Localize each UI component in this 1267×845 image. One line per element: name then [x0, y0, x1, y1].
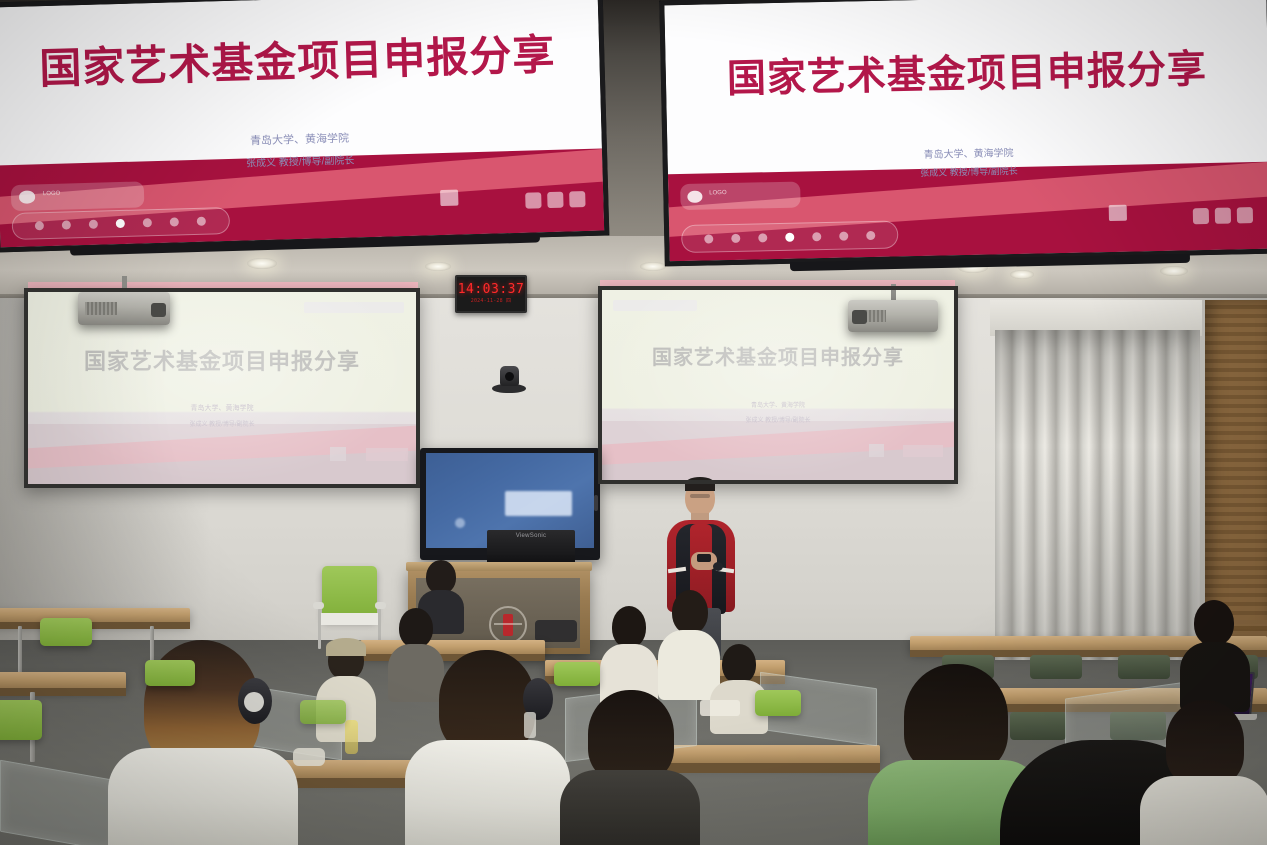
audience-head — [399, 608, 433, 648]
audience-shirt — [405, 740, 570, 845]
pen-icon[interactable] — [704, 234, 713, 243]
desk-leg — [18, 626, 22, 678]
audience-head — [672, 590, 708, 634]
audience-head — [722, 644, 756, 684]
presenter-glasses — [690, 494, 710, 498]
desk-item — [293, 748, 325, 766]
presenter-hair — [685, 477, 715, 491]
chair-row — [300, 700, 346, 724]
more-icon[interactable] — [197, 217, 206, 226]
ceiling-downlight — [247, 258, 277, 269]
slide-left: 国家艺术基金项目申报分享 青岛大学、黄海学院 张成义 教授/博导/副院长 LOG… — [0, 0, 604, 247]
wall-tv-right[interactable]: 国家艺术基金项目申报分享 青岛大学、黄海学院 张成义 教授/博导/副院长 LOG… — [659, 0, 1267, 266]
exit-icon[interactable] — [569, 191, 585, 207]
slide-logo-badge: LOGO — [680, 182, 801, 210]
proj-logo-strip — [613, 300, 697, 311]
ceiling-downlight — [640, 262, 666, 271]
audience-head — [426, 560, 456, 594]
ceiling-downlight — [1010, 270, 1034, 279]
projector-vent — [85, 302, 116, 315]
clock-time: 14:03:37 — [458, 283, 525, 296]
audience-top — [560, 770, 700, 845]
projector-right — [848, 300, 938, 332]
emblem-bar — [494, 623, 523, 625]
chair-left-row — [40, 618, 92, 646]
laser-pointer-icon[interactable] — [785, 232, 794, 241]
desk-item-paper — [700, 700, 740, 716]
ceiling-downlight — [1160, 266, 1188, 276]
pen-icon[interactable] — [35, 221, 44, 230]
panel-icon — [455, 518, 465, 528]
undo-icon[interactable] — [839, 231, 848, 240]
audience-head — [612, 606, 646, 648]
proj-badge — [869, 444, 884, 457]
shapes-icon[interactable] — [812, 232, 821, 241]
audience-hair — [1166, 700, 1244, 786]
projector-lens — [852, 310, 867, 324]
front-chair-arm-right — [375, 602, 386, 609]
panel-side-buttons[interactable] — [594, 495, 598, 511]
highlighter-icon[interactable] — [62, 221, 71, 230]
laser-pointer-icon[interactable] — [116, 219, 125, 228]
desk-item-cup — [524, 712, 536, 738]
proj-subtitle-line2: 张成义 教授/博导/副院长 — [602, 415, 954, 424]
front-chair-arm-left — [313, 602, 324, 609]
slide-page-badge — [440, 190, 458, 206]
audience-member — [405, 650, 570, 845]
present-icon[interactable] — [1193, 208, 1209, 224]
chair-row — [755, 690, 801, 716]
eraser-icon[interactable] — [758, 233, 767, 242]
chair-row — [554, 662, 600, 686]
projector-left — [78, 292, 170, 325]
notes-icon[interactable] — [1215, 208, 1231, 224]
audience-cap — [326, 638, 366, 656]
chair-row — [145, 660, 195, 686]
proj-subtitle-line1: 青岛大学、黄海学院 — [28, 403, 416, 413]
headphone-pad — [244, 692, 264, 712]
slide-annotation-toolbar[interactable] — [681, 221, 898, 254]
logo-dot-icon — [19, 191, 35, 204]
slide-corner-icons[interactable] — [1193, 207, 1253, 224]
desk-edge — [0, 622, 190, 629]
logo-dot-icon — [688, 190, 703, 202]
audience-member — [1140, 700, 1267, 845]
panel-window — [505, 491, 572, 516]
university-emblem — [489, 606, 527, 644]
audience-head — [1194, 600, 1234, 646]
clock-date: 2024-11-28 四 — [471, 298, 512, 305]
proj-subtitle-line2: 张成义 教授/博导/副院长 — [28, 419, 416, 428]
podium-monitor: ViewSonic — [487, 530, 575, 566]
curtain-shading — [995, 330, 1200, 660]
audience-member — [560, 690, 700, 845]
chair-left-row — [0, 700, 42, 740]
proj-subtitle-line1: 青岛大学、黄海学院 — [602, 400, 954, 409]
more-icon[interactable] — [866, 231, 875, 240]
highlighter-icon[interactable] — [731, 234, 740, 243]
desk-item-bottle — [345, 720, 358, 754]
logo-label: LOGO — [43, 191, 61, 197]
ceiling-downlight — [425, 262, 451, 271]
audience-hoodie — [108, 748, 298, 845]
monitor-brand-label: ViewSonic — [487, 533, 575, 539]
camera-lens-icon — [505, 372, 514, 381]
slide-page-badge — [1108, 205, 1126, 221]
present-icon[interactable] — [525, 192, 541, 208]
presenter-watch — [713, 562, 723, 571]
audience-member-headphones — [108, 640, 298, 845]
audience-member — [1180, 600, 1250, 710]
logo-label: LOGO — [709, 190, 726, 196]
podium-equipment — [535, 620, 577, 642]
chair-back-row — [1118, 655, 1170, 679]
slide-logo-badge: LOGO — [11, 181, 145, 211]
slide-corner-icons[interactable] — [525, 191, 585, 209]
proj-title: 国家艺术基金项目申报分享 — [602, 341, 954, 370]
slide-right: 国家艺术基金项目申报分享 青岛大学、黄海学院 张成义 教授/博导/副院长 LOG… — [664, 0, 1267, 261]
proj-corner-icons — [366, 448, 408, 461]
audience-hair — [439, 650, 535, 754]
proj-badge — [330, 447, 346, 461]
notes-icon[interactable] — [547, 192, 563, 208]
proj-corner-icons — [903, 445, 943, 457]
led-clock: 14:03:37 2024-11-28 四 — [455, 275, 527, 313]
audience-shirt — [1140, 776, 1267, 845]
eraser-icon[interactable] — [89, 220, 98, 229]
lecture-hall-photo: 国家艺术基金项目申报分享 青岛大学、黄海学院 张成义 教授/博导/副院长 LOG… — [0, 0, 1267, 845]
wall-tv-left[interactable]: 国家艺术基金项目申报分享 青岛大学、黄海学院 张成义 教授/博导/副院长 LOG… — [0, 0, 609, 253]
proj-logo-strip — [304, 302, 405, 314]
front-chair-seat — [318, 613, 381, 625]
undo-icon[interactable] — [170, 217, 179, 226]
audience-hair — [588, 690, 674, 782]
audience-member — [710, 644, 768, 730]
proj-title: 国家艺术基金项目申报分享 — [28, 344, 416, 376]
presentation-remote — [697, 554, 711, 562]
exit-icon[interactable] — [1237, 207, 1253, 223]
audience-hair — [904, 664, 1008, 774]
projector-lens — [151, 303, 166, 318]
shapes-icon[interactable] — [143, 218, 152, 227]
